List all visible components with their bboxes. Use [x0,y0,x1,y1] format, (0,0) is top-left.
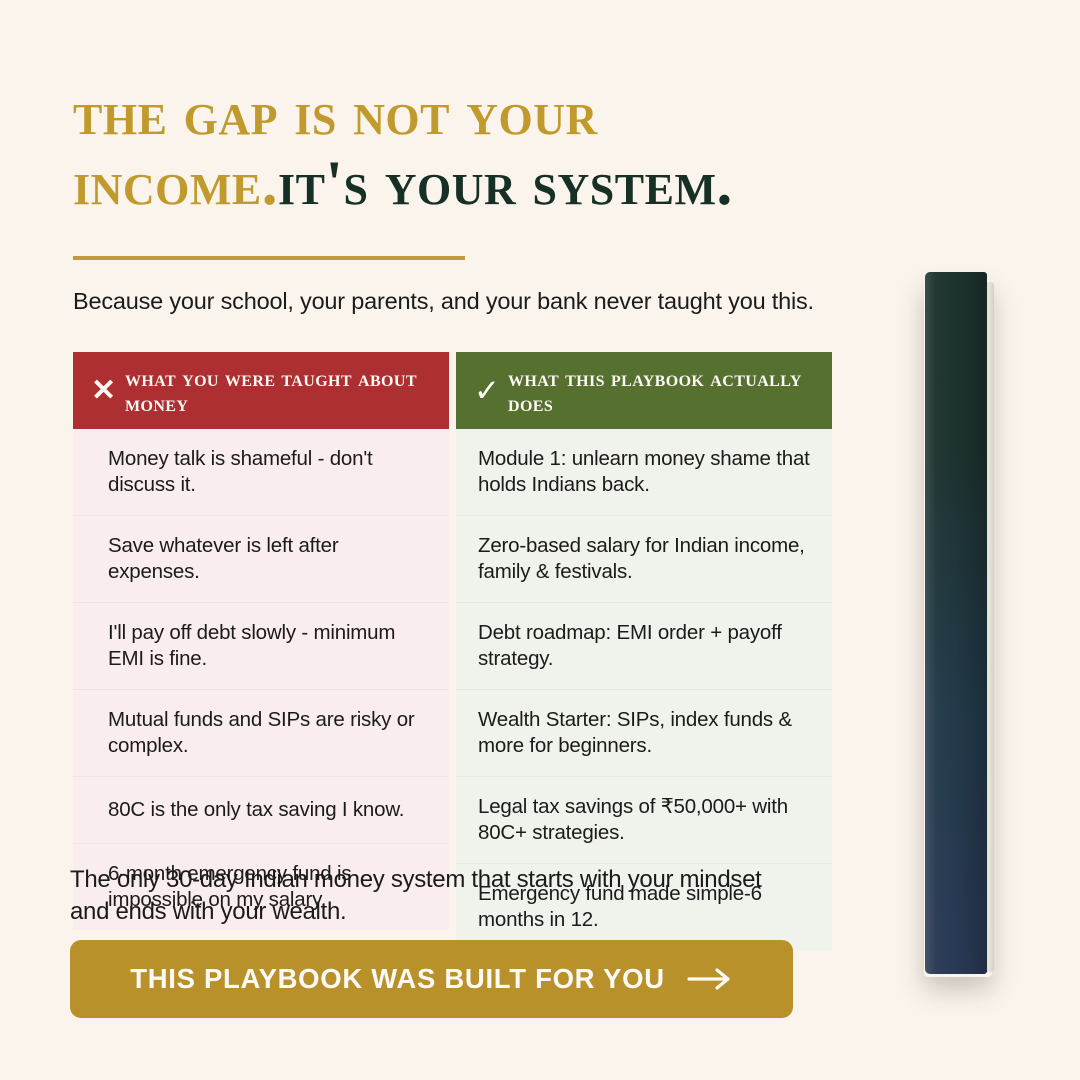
table-row: I'll pay off debt slowly - minimum EMI i… [73,603,449,690]
column-taught-about-money: ✕ What You Were Taught About Money Money… [73,352,449,950]
page-title: The Gap Is Not Your Income.It's Your Sys… [73,78,953,218]
book-spine-title: Money Playbook 30-Day Financial Reset Sy… [942,343,970,903]
column-header-bad: ✕ What You Were Taught About Money [73,352,449,429]
headline-line-2-dark: It's Your System. [278,148,733,218]
table-row: Save whatever is left after expenses. [73,516,449,603]
book-spine: Money Playbook 30-Day Financial Reset Sy… [925,272,987,974]
table-row: Mutual funds and SIPs are risky or compl… [73,690,449,777]
table-row: Money talk is shameful - don't discuss i… [73,429,449,516]
check-icon: ✓ [474,375,508,406]
headline-line-1: The Gap Is Not Your [73,78,953,148]
cta-button-label: THIS PLAYBOOK WAS BUILT FOR YOU [130,963,665,995]
subheadline: Because your school, your parents, and y… [73,286,923,316]
table-row: Legal tax savings of ₹50,000+ with 80C+ … [456,777,832,864]
column-header-good-label: What This Playbook Actually Does [508,366,818,416]
arrow-right-icon [687,967,733,991]
column-header-good: ✓ What This Playbook Actually Does [456,352,832,429]
table-row: Zero-based salary for Indian income, fam… [456,516,832,603]
rows-bad: Money talk is shameful - don't discuss i… [73,429,449,930]
table-row: Wealth Starter: SIPs, index funds & more… [456,690,832,777]
column-header-bad-label: What You Were Taught About Money [125,366,435,416]
gold-divider [73,256,465,260]
table-row: Debt roadmap: EMI order + payoff strateg… [456,603,832,690]
table-row: Module 1: unlearn money shame that holds… [456,429,832,516]
comparison-table: ✕ What You Were Taught About Money Money… [73,352,832,950]
headline-line-2: Income.It's Your System. [73,148,953,218]
closing-copy: The only 30-day Indian money system that… [70,864,770,928]
book-mockup: Money Playbook 30-Day Financial Reset Sy… [922,272,994,977]
headline-line-2-gold: Income. [73,148,278,218]
cta-button[interactable]: THIS PLAYBOOK WAS BUILT FOR YOU [70,940,793,1018]
cross-icon: ✕ [91,376,125,406]
table-row: 80C is the only tax saving I know. [73,777,449,844]
column-playbook-does: ✓ What This Playbook Actually Does Modul… [456,352,832,950]
